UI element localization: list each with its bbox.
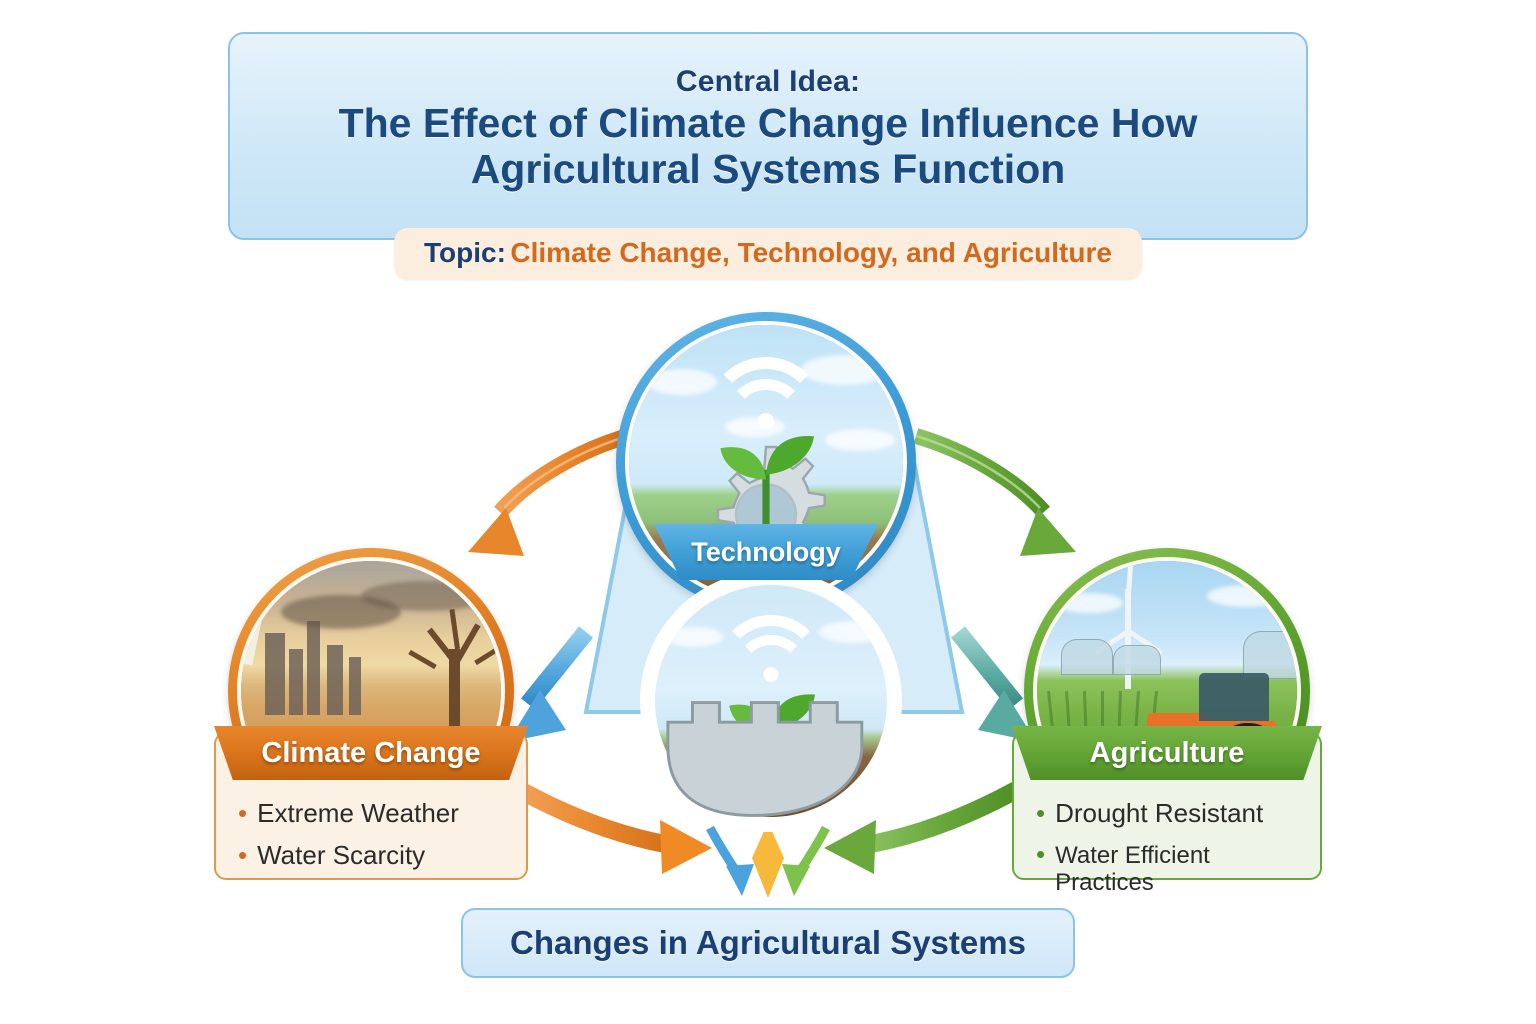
climate-bullet-1: Extreme Weather xyxy=(257,799,459,829)
technology-banner: Technology xyxy=(654,524,878,580)
bullet-icon: • xyxy=(238,842,247,868)
outcome-banner: Changes in Agricultural Systems xyxy=(461,908,1075,978)
cloud-icon xyxy=(819,621,887,643)
bullet-icon: • xyxy=(1036,800,1045,826)
central-idea-title: The Effect of Climate Change Influence H… xyxy=(260,101,1276,193)
bullet-icon: • xyxy=(238,800,247,826)
node-climate-change[interactable]: • Extreme Weather • Water Scarcity xyxy=(206,548,536,888)
gear-icon xyxy=(646,678,896,840)
node-agriculture[interactable]: • Drought Resistant • Water Efficient Pr… xyxy=(1008,548,1326,888)
agriculture-bullet-2: Water Efficient Practices xyxy=(1055,842,1304,897)
climate-change-banner: Climate Change xyxy=(214,726,528,780)
topic-value: Climate Change, Technology, and Agricult… xyxy=(510,237,1112,268)
list-item: • Drought Resistant xyxy=(1036,799,1304,829)
node-technology[interactable]: Technology xyxy=(616,312,928,572)
agriculture-title: Agriculture xyxy=(1090,737,1245,770)
bullet-icon: • xyxy=(1036,841,1045,867)
infographic-canvas: Central Idea: The Effect of Climate Chan… xyxy=(0,0,1536,1024)
list-item: • Extreme Weather xyxy=(238,799,510,829)
agriculture-banner: Agriculture xyxy=(1012,726,1322,780)
technology-title: Technology xyxy=(691,537,841,568)
agriculture-bullet-1: Drought Resistant xyxy=(1055,799,1263,829)
topic-label: Topic: xyxy=(424,237,506,268)
climate-change-title: Climate Change xyxy=(261,737,480,770)
greenhouse-icon xyxy=(1243,631,1301,679)
factory-icon xyxy=(289,649,303,715)
factory-icon xyxy=(265,633,285,715)
central-idea-label: Central Idea: xyxy=(676,65,860,99)
climate-bullet-2: Water Scarcity xyxy=(257,841,425,871)
cloud-icon xyxy=(1055,593,1123,613)
topic-badge: Topic: Climate Change, Technology, and A… xyxy=(394,228,1142,280)
wifi-icon xyxy=(716,615,826,685)
cloud-icon xyxy=(665,627,723,647)
factory-icon xyxy=(307,621,320,715)
smoke-icon xyxy=(361,581,491,611)
list-item: • Water Efficient Practices xyxy=(1036,841,1304,897)
greenhouse-icon xyxy=(1061,639,1113,675)
outcome-label: Changes in Agricultural Systems xyxy=(510,924,1026,962)
list-item: • Water Scarcity xyxy=(238,841,510,871)
sprout-icon xyxy=(706,417,826,537)
greenhouse-icon xyxy=(1113,645,1161,675)
node-center[interactable] xyxy=(640,570,904,840)
factory-icon xyxy=(327,645,343,715)
factory-icon xyxy=(349,657,361,715)
central-idea-box: Central Idea: The Effect of Climate Chan… xyxy=(228,32,1308,240)
cloud-icon xyxy=(1207,585,1287,607)
